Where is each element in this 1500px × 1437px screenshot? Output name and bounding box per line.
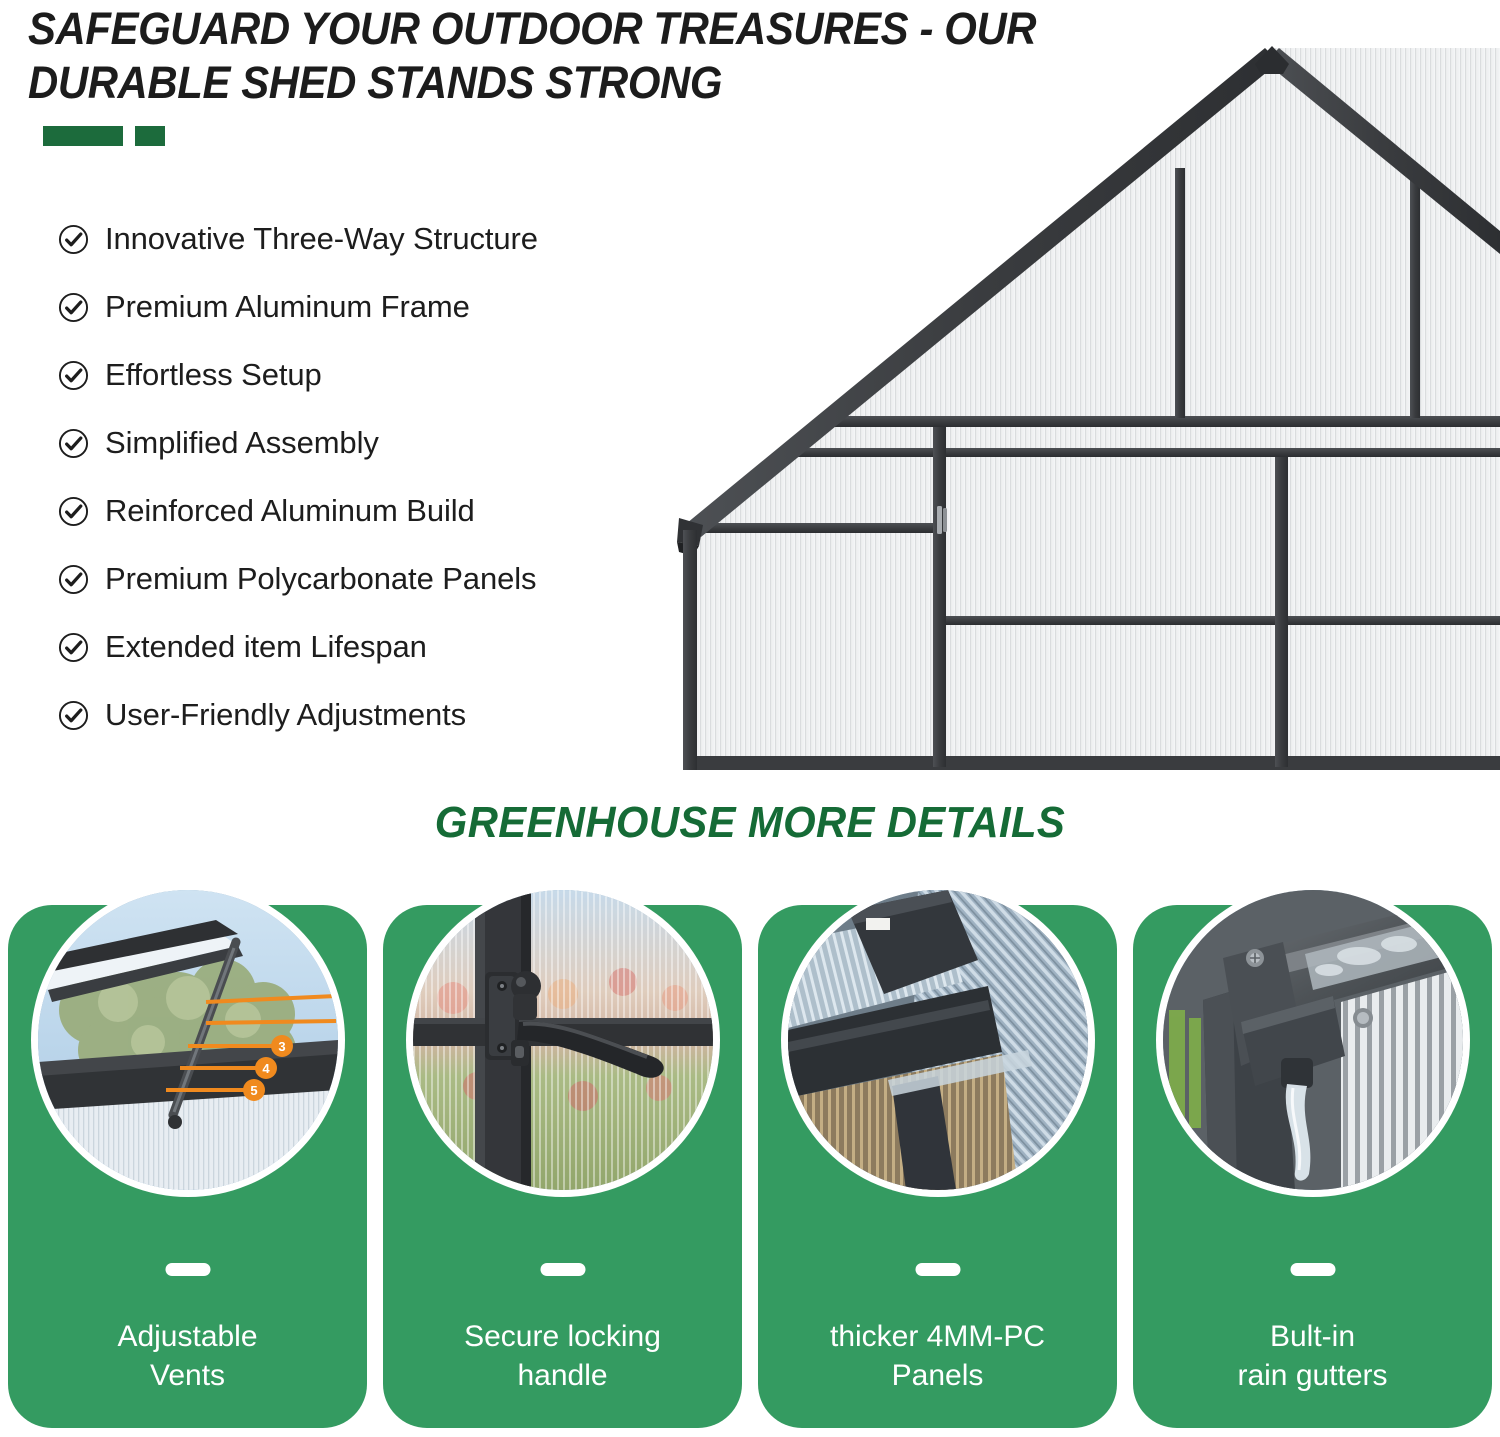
card-caption: Bult-in rain gutters: [1133, 1317, 1492, 1395]
feature-label: User-Friendly Adjustments: [105, 697, 466, 733]
card-caption: Adjustable Vents: [8, 1317, 367, 1395]
list-item: Reinforced Aluminum Build: [58, 477, 738, 545]
check-circle-icon: [58, 224, 89, 255]
feature-list: Innovative Three-Way Structure Premium A…: [58, 205, 738, 749]
list-item: Extended item Lifespan: [58, 613, 738, 681]
feature-label: Simplified Assembly: [105, 425, 379, 461]
accent-bar-wide: [43, 126, 123, 146]
check-circle-icon: [58, 292, 89, 323]
list-item: Premium Polycarbonate Panels: [58, 545, 738, 613]
handle-photo-art: [413, 890, 713, 1190]
list-item: Premium Aluminum Frame: [58, 273, 738, 341]
card-divider-pill: [540, 1263, 585, 1276]
pc-panel-photo: [781, 883, 1095, 1197]
card-divider-pill: [1290, 1263, 1335, 1276]
list-item: Effortless Setup: [58, 341, 738, 409]
feature-label: Premium Aluminum Frame: [105, 289, 470, 325]
list-item: Simplified Assembly: [58, 409, 738, 477]
callout-number-3: 3: [278, 1039, 285, 1054]
adjustable-vent-photo: 3 4 5: [31, 883, 345, 1197]
detail-card-rain-gutters[interactable]: Bult-in rain gutters: [1133, 905, 1492, 1428]
card-caption: thicker 4MM-PC Panels: [758, 1317, 1117, 1395]
feature-label: Reinforced Aluminum Build: [105, 493, 475, 529]
gutter-photo-art: [1163, 890, 1463, 1190]
section-title: GREENHOUSE MORE DETAILS: [38, 798, 1463, 848]
hero-section: SAFEGUARD YOUR OUTDOOR TREASURES - OUR D…: [0, 0, 1500, 790]
detail-card-pc-panels[interactable]: thicker 4MM-PC Panels: [758, 905, 1117, 1428]
panel-photo-art: [788, 890, 1088, 1190]
greenhouse-frame-detail: [675, 18, 1500, 770]
feature-label: Effortless Setup: [105, 357, 322, 393]
check-circle-icon: [58, 700, 89, 731]
check-circle-icon: [58, 632, 89, 663]
accent-bar-narrow: [135, 126, 165, 146]
accent-bars: [43, 126, 165, 146]
rain-gutter-photo: [1156, 883, 1470, 1197]
detail-card-locking-handle[interactable]: Secure locking handle: [383, 905, 742, 1428]
callout-number-4: 4: [262, 1061, 270, 1076]
detail-card-list: 3 4 5 Adjustable Vents: [8, 905, 1492, 1428]
feature-label: Premium Polycarbonate Panels: [105, 561, 536, 597]
card-divider-pill: [165, 1263, 210, 1276]
check-circle-icon: [58, 360, 89, 391]
card-caption: Secure locking handle: [383, 1317, 742, 1395]
feature-label: Extended item Lifespan: [105, 629, 427, 665]
list-item: Innovative Three-Way Structure: [58, 205, 738, 273]
check-circle-icon: [58, 496, 89, 527]
list-item: User-Friendly Adjustments: [58, 681, 738, 749]
vent-photo-art: 3 4 5: [38, 890, 338, 1190]
check-circle-icon: [58, 564, 89, 595]
feature-label: Innovative Three-Way Structure: [105, 221, 538, 257]
callout-number-5: 5: [250, 1083, 257, 1098]
card-divider-pill: [915, 1263, 960, 1276]
check-circle-icon: [58, 428, 89, 459]
detail-card-adjustable-vents[interactable]: 3 4 5 Adjustable Vents: [8, 905, 367, 1428]
locking-handle-photo: [406, 883, 720, 1197]
product-feature-page: SAFEGUARD YOUR OUTDOOR TREASURES - OUR D…: [0, 0, 1500, 1437]
